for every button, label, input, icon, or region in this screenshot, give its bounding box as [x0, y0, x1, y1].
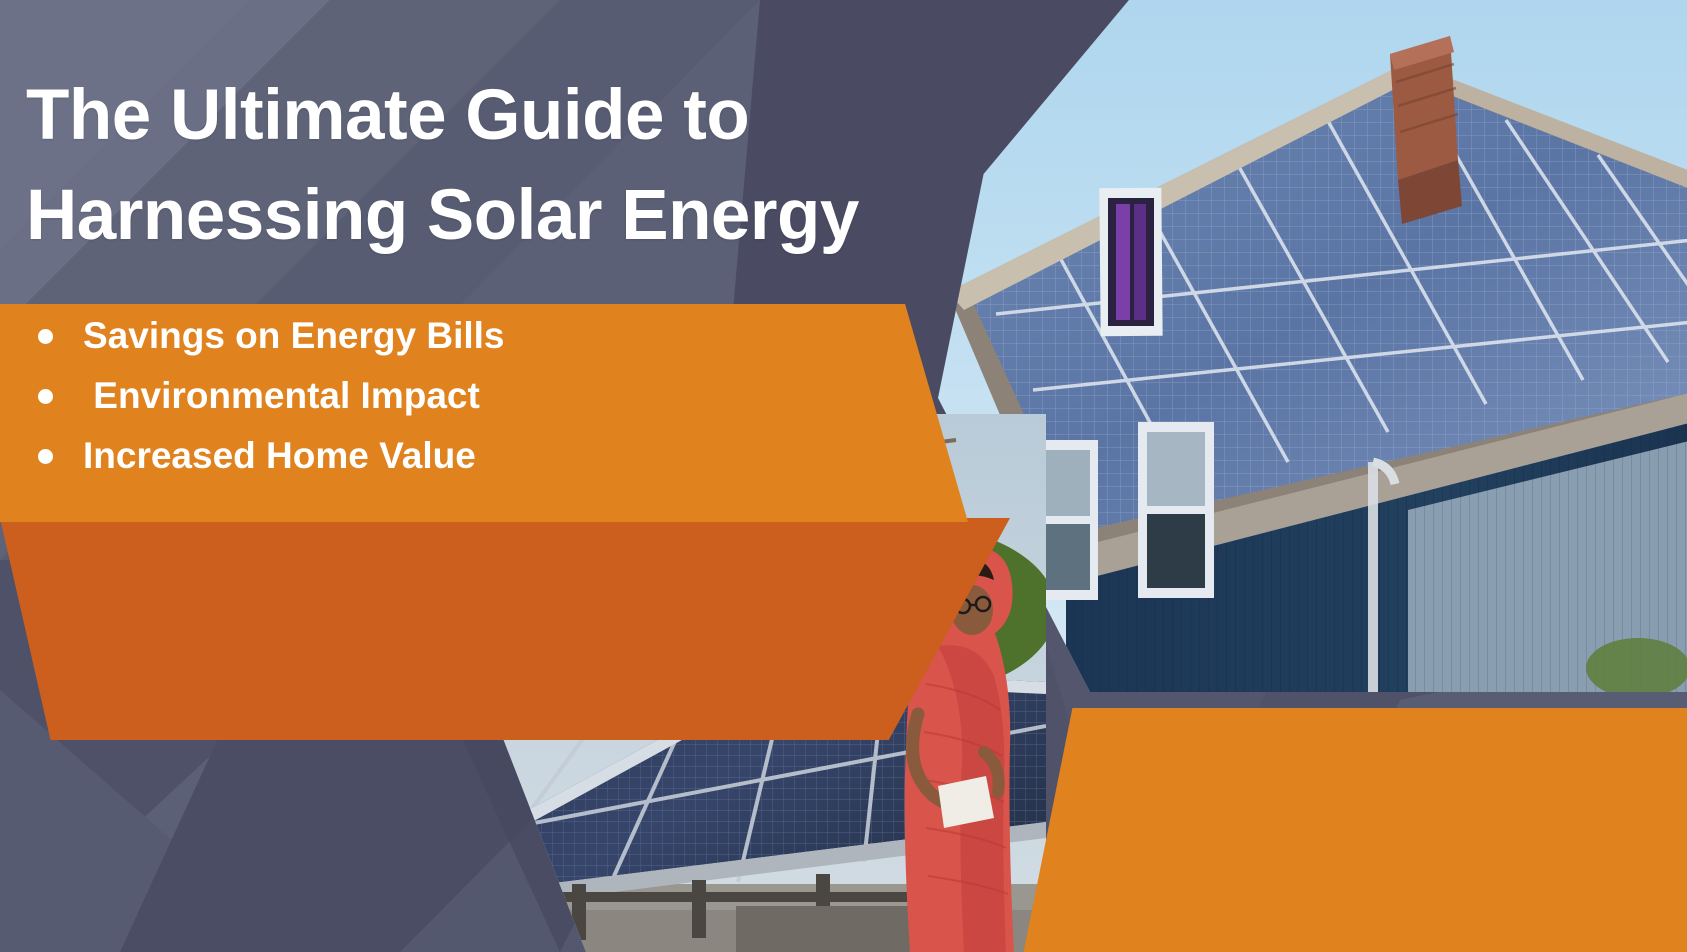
benefit-label: Increased Home Value [83, 434, 476, 478]
headline-line-2: Harnessing Solar Energy [26, 166, 926, 266]
benefit-label: Savings on Energy Bills [83, 314, 505, 358]
headline-line-1: The Ultimate Guide to [26, 66, 926, 166]
house-solar-scene [938, 0, 1687, 692]
bullet-dot-icon [38, 449, 53, 464]
dark-orange-band [0, 518, 1010, 740]
benefit-label: Environmental Impact [83, 374, 480, 418]
bullet-dot-icon [38, 389, 53, 404]
list-item: Savings on Energy Bills [30, 306, 810, 366]
image-house-with-rooftop-solar-panels [938, 0, 1687, 692]
orange-bottom-right-block [1022, 708, 1687, 952]
solar-guide-banner: The Ultimate Guide to Harnessing Solar E… [0, 0, 1687, 952]
page-title: The Ultimate Guide to Harnessing Solar E… [26, 66, 926, 266]
benefits-list: Savings on Energy Bills Environmental Im… [30, 306, 810, 486]
list-item: Increased Home Value [30, 426, 810, 486]
bullet-dot-icon [38, 329, 53, 344]
list-item: Environmental Impact [30, 366, 810, 426]
